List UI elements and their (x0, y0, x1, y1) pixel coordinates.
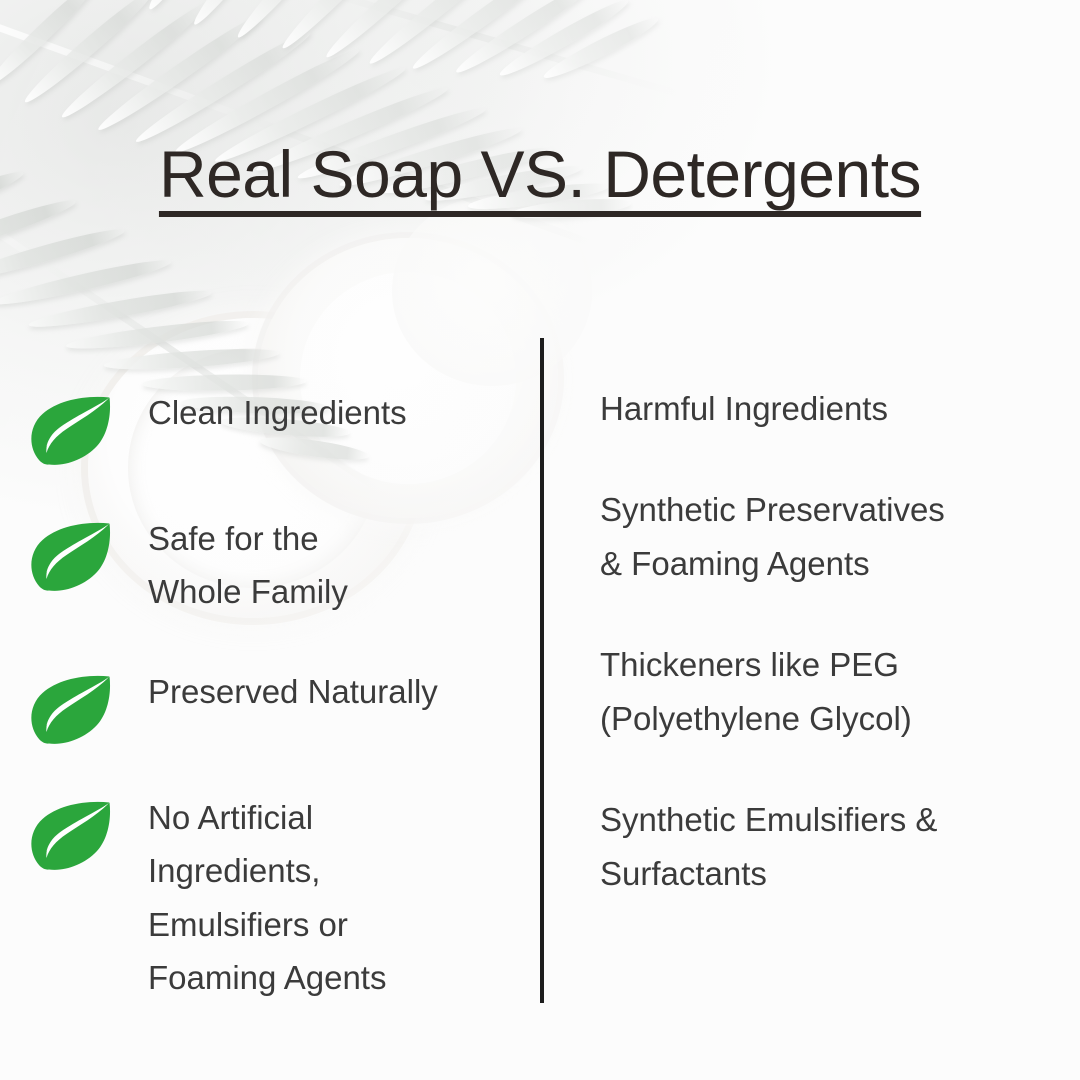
list-item-text: Clean Ingredients (148, 382, 407, 439)
list-item: Harmful Ingredients (600, 382, 1050, 435)
list-item: Clean Ingredients (30, 382, 520, 466)
list-item: No Artificial Ingredients, Emulsifiers o… (30, 787, 520, 1005)
list-item-text: Harmful Ingredients (600, 382, 888, 435)
leaf-icon (30, 801, 112, 871)
leaf-icon-wrap (30, 661, 148, 745)
leaf-icon (30, 675, 112, 745)
list-item-text: Synthetic Preservatives & Foaming Agents (600, 483, 945, 590)
leaf-icon (30, 396, 112, 466)
left-column-real-soap: Clean Ingredients Safe for the Whole Fam… (30, 382, 520, 1047)
list-item-text: Safe for the Whole Family (148, 508, 348, 619)
list-item: Synthetic Preservatives & Foaming Agents (600, 483, 1050, 590)
column-divider (540, 338, 544, 1003)
list-item-text: Synthetic Emulsifiers & Surfactants (600, 793, 937, 900)
list-item-text: No Artificial Ingredients, Emulsifiers o… (148, 787, 386, 1005)
coconut-half-far (392, 196, 592, 386)
list-item: Thickeners like PEG (Polyethylene Glycol… (600, 638, 1050, 745)
leaf-icon-wrap (30, 787, 148, 871)
list-item: Preserved Naturally (30, 661, 520, 745)
list-item: Safe for the Whole Family (30, 508, 520, 619)
palm-frond-top (119, 0, 734, 26)
list-item-text: Thickeners like PEG (Polyethylene Glycol… (600, 638, 912, 745)
page-title: Real Soap VS. Detergents (0, 140, 1080, 209)
list-item: Synthetic Emulsifiers & Surfactants (600, 793, 1050, 900)
list-item-text: Preserved Naturally (148, 661, 438, 718)
leaf-icon (30, 522, 112, 592)
right-column-detergents: Harmful Ingredients Synthetic Preservati… (600, 382, 1050, 948)
leaf-icon-wrap (30, 382, 148, 466)
leaf-icon-wrap (30, 508, 148, 592)
infographic-canvas: Real Soap VS. Detergents Clean Ingredien… (0, 0, 1080, 1080)
